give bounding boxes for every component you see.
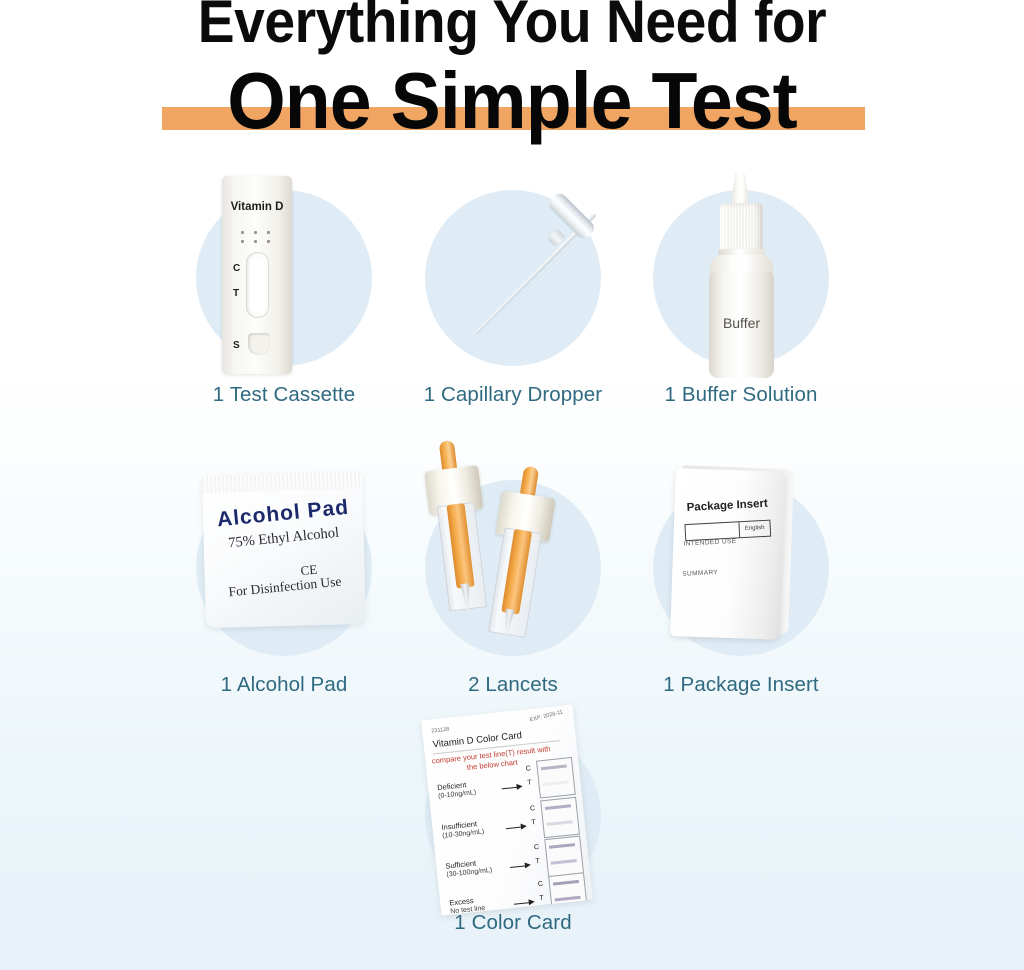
lancet-plunger [501, 529, 532, 615]
package-insert-booklet: Package Insert English INTENDED USE SUMM… [670, 468, 792, 640]
card-lot-number: 231128 [431, 727, 449, 735]
color-card-image: 231128 EXP: 2026-11 Vitamin D Color Card… [393, 706, 633, 911]
test-band [555, 896, 581, 902]
item-caption: 1 Capillary Dropper [393, 383, 633, 407]
cassette-result-window [246, 252, 269, 318]
package-insert-image: Package Insert English INTENDED USE SUMM… [621, 458, 861, 673]
bottle-label-text: Buffer [709, 315, 774, 331]
insert-title: Package Insert [686, 498, 768, 514]
buffer-bottle: Buffer [698, 173, 784, 378]
test-band [542, 780, 568, 786]
card-title: Vitamin D Color Card [432, 730, 522, 750]
item-alcohol-pad[interactable]: Alcohol Pad 75% Ethyl Alcohol CE For Dis… [164, 458, 404, 697]
alcohol-pad-sachet: Alcohol Pad 75% Ethyl Alcohol CE For Dis… [202, 472, 366, 628]
dropper-device [423, 182, 611, 370]
item-caption: 2 Lancets [393, 673, 633, 697]
headline: Everything You Need for One Simple Test [0, 0, 1024, 154]
card-expiry: EXP: 2026-11 [529, 709, 563, 723]
pad-footer: For Disinfection Use [205, 571, 366, 602]
capillary-dropper-image [393, 168, 633, 383]
level-strip-swatch [536, 757, 576, 799]
level-test-label: T [539, 895, 544, 902]
item-caption: 1 Buffer Solution [621, 383, 861, 407]
item-test-cassette[interactable]: Vitamin D C T S 1 Test Cassette [164, 168, 404, 407]
item-caption: 1 Color Card [393, 911, 633, 935]
level-test-label: T [527, 779, 532, 786]
control-band [553, 880, 579, 886]
item-caption: 1 Test Cassette [164, 383, 404, 407]
insert-front-page: Package Insert English INTENDED USE SUMM… [670, 468, 786, 640]
bottle-body: Buffer [709, 272, 774, 378]
item-buffer-solution[interactable]: Buffer 1 Buffer Solution [621, 168, 861, 407]
lancet-needle [502, 608, 515, 635]
vitamin-d-color-card: 231128 EXP: 2026-11 Vitamin D Color Card… [421, 705, 593, 916]
buffer-solution-image: Buffer [621, 168, 861, 383]
lancets-image [393, 458, 633, 673]
arrow-icon [506, 823, 529, 831]
bottle-cap [720, 203, 763, 253]
arrow-icon [514, 899, 537, 907]
lancet-plunger [447, 503, 475, 589]
cassette-analyte-label: Vitamin D [222, 201, 292, 213]
lancet-barrel [488, 527, 542, 638]
level-control-label: C [538, 881, 544, 888]
item-package-insert[interactable]: Package Insert English INTENDED USE SUMM… [621, 458, 861, 697]
headline-line-2: One Simple Test [31, 58, 994, 144]
level-strip-swatch [540, 797, 580, 839]
item-color-card[interactable]: 231128 EXP: 2026-11 Vitamin D Color Card… [393, 706, 633, 935]
item-caption: 1 Package Insert [621, 673, 861, 697]
control-band [549, 843, 575, 849]
alcohol-pad-image: Alcohol Pad 75% Ethyl Alcohol CE For Dis… [164, 458, 404, 673]
level-strip-swatch [548, 872, 588, 914]
item-lancets[interactable]: 2 Lancets [393, 458, 633, 697]
cassette-device: Vitamin D C T S [222, 176, 292, 374]
headline-line-2-wrapper: One Simple Test [0, 58, 1024, 154]
sachet-crimp-edge [202, 472, 362, 493]
lancet-needle [460, 583, 472, 610]
headline-line-1: Everything You Need for [41, 0, 983, 52]
test-cassette-image: Vitamin D C T S [164, 168, 404, 383]
insert-section-intended-use: INTENDED USE [683, 538, 736, 548]
level-control-label: C [530, 805, 536, 812]
item-capillary-dropper[interactable]: 1 Capillary Dropper [393, 168, 633, 407]
test-band [551, 859, 577, 865]
cassette-dot-marks [241, 231, 274, 244]
cassette-sample-label: S [233, 340, 240, 351]
product-contents-infographic: Everything You Need for One Simple Test … [0, 0, 1024, 970]
level-control-label: C [525, 765, 531, 772]
control-band [541, 765, 567, 771]
cassette-control-label: C [233, 263, 240, 274]
arrow-icon [501, 783, 524, 791]
level-test-label: T [531, 819, 536, 826]
control-band [545, 804, 571, 810]
lancet-barrel [437, 502, 488, 612]
cassette-sample-well [248, 333, 270, 355]
test-band [547, 820, 573, 826]
level-strip-swatch [544, 836, 584, 878]
insert-section-summary: SUMMARY [682, 569, 718, 578]
cassette-test-label: T [233, 288, 239, 299]
arrow-icon [510, 862, 533, 870]
level-control-label: C [534, 844, 540, 851]
item-caption: 1 Alcohol Pad [164, 673, 404, 697]
level-test-label: T [535, 858, 540, 865]
insert-language-label: English [738, 521, 770, 538]
